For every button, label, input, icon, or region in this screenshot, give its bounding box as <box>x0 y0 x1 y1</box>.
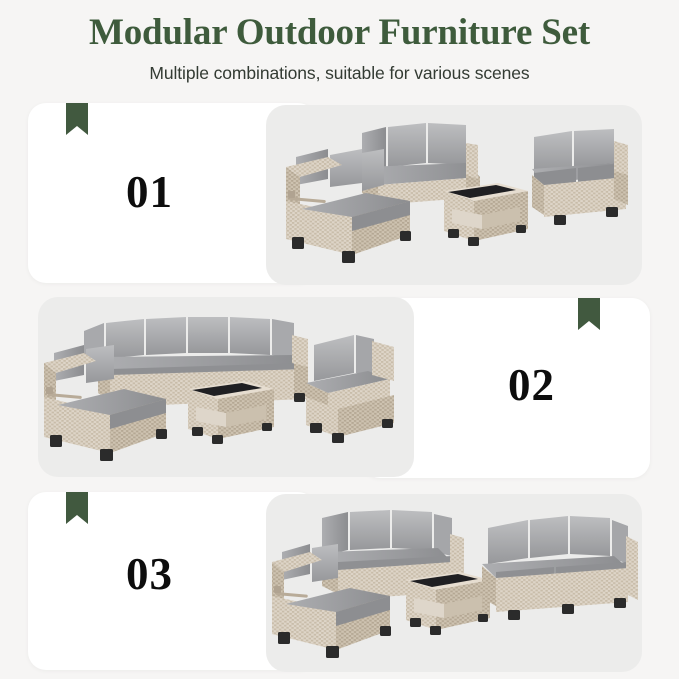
page-subtitle: Multiple combinations, suitable for vari… <box>0 51 679 84</box>
page-title: Modular Outdoor Furniture Set <box>0 0 679 51</box>
coffee-table <box>406 572 490 635</box>
infographic-page: Modular Outdoor Furniture Set Multiple c… <box>0 0 679 679</box>
product-photo-03 <box>266 494 642 672</box>
product-photo-01 <box>266 105 642 285</box>
armless-chair <box>306 335 394 443</box>
header: Modular Outdoor Furniture Set Multiple c… <box>0 0 679 84</box>
product-photo-02 <box>38 297 414 477</box>
step-number-02: 02 <box>508 363 555 408</box>
step-number-01: 01 <box>126 170 173 215</box>
coffee-table <box>444 183 528 246</box>
bookmark-ribbon-icon <box>66 492 88 524</box>
bookmark-ribbon-icon <box>578 298 600 330</box>
step-number-03: 03 <box>126 552 173 597</box>
three-seat-sofa <box>482 516 638 620</box>
bookmark-ribbon-icon <box>66 103 88 135</box>
two-seat-sofa <box>532 129 628 225</box>
coffee-table <box>188 381 274 444</box>
